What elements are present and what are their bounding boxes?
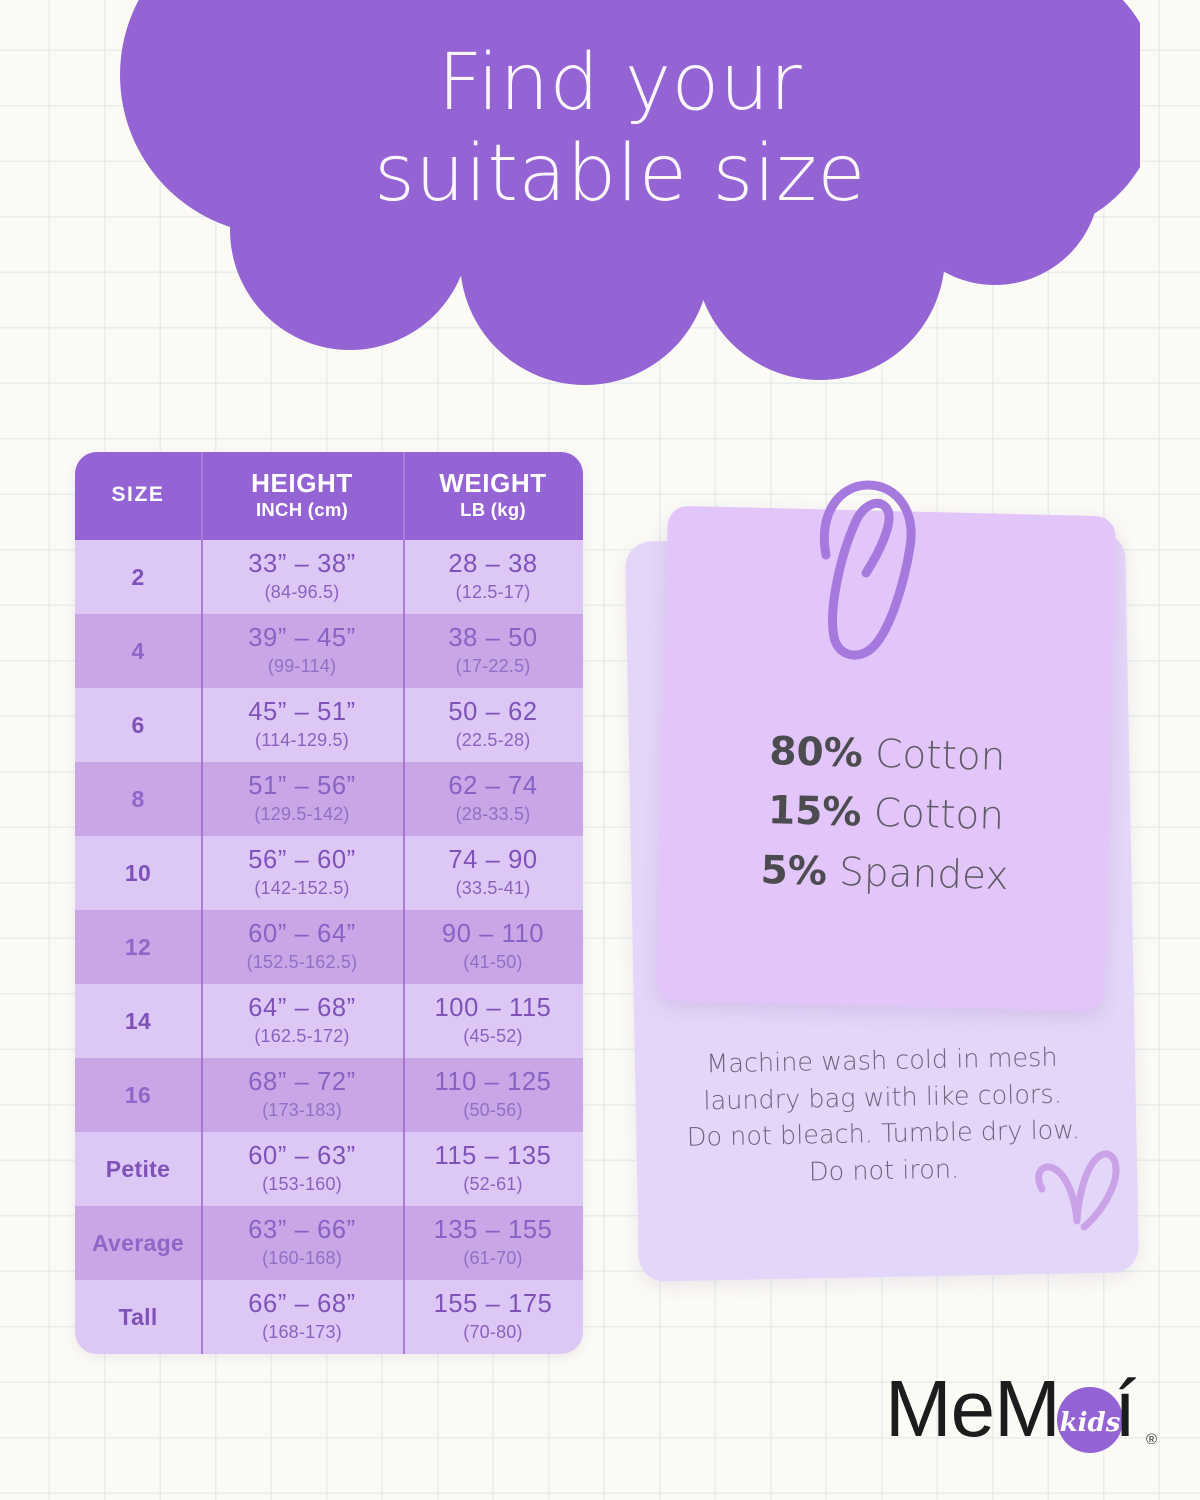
column-header-size: SIZE	[75, 452, 201, 540]
size-value: 2	[131, 564, 144, 591]
weight-kg: (17-22.5)	[456, 656, 531, 678]
cell-size: Average	[75, 1206, 201, 1280]
height-inch: 64” – 68”	[248, 995, 355, 1023]
fabric-percent: 15%	[767, 788, 861, 835]
page-title: Find your suitable size	[170, 38, 1070, 221]
column-header-weight: WEIGHT LB (kg)	[403, 452, 583, 540]
height-inch: 56” – 60”	[248, 847, 355, 875]
column-header-size-label: SIZE	[111, 483, 164, 507]
table-row: 2 33” – 38” (84-96.5) 28 – 38 (12.5-17)	[75, 540, 583, 614]
table-row: 12 60” – 64” (152.5-162.5) 90 – 110 (41-…	[75, 910, 583, 984]
memoi-kids-logo: MeMo kids í ®	[885, 1364, 1160, 1472]
fabric-composition: 80% Cotton 15% Cotton 5% Spandex	[660, 720, 1112, 909]
table-row: 6 45” – 51” (114-129.5) 50 – 62 (22.5-28…	[75, 688, 583, 762]
fabric-percent: 80%	[769, 729, 863, 776]
table-row: Petite 60” – 63” (153-160) 115 – 135 (52…	[75, 1132, 583, 1206]
weight-lb: 38 – 50	[448, 625, 537, 653]
kids-badge-text: kids	[1060, 1408, 1121, 1438]
heart-doodle-icon	[1028, 1143, 1124, 1243]
cell-weight: 135 – 155 (61-70)	[403, 1206, 583, 1280]
height-cm: (99-114)	[268, 656, 336, 678]
cell-weight: 62 – 74 (28-33.5)	[403, 762, 583, 836]
height-inch: 66” – 68”	[248, 1291, 355, 1319]
cell-size: Tall	[75, 1280, 201, 1354]
cell-height: 51” – 56” (129.5-142)	[201, 762, 403, 836]
height-cm: (142-152.5)	[254, 878, 349, 900]
height-inch: 68” – 72”	[248, 1069, 355, 1097]
weight-lb: 28 – 38	[448, 551, 537, 579]
table-row: Average 63” – 66” (160-168) 135 – 155 (6…	[75, 1206, 583, 1280]
weight-kg: (52-61)	[463, 1174, 522, 1196]
column-header-height-unit: INCH (cm)	[256, 499, 348, 521]
column-header-height-label: HEIGHT	[251, 469, 353, 498]
column-header-height: HEIGHT INCH (cm)	[201, 452, 403, 540]
cell-height: 64” – 68” (162.5-172)	[201, 984, 403, 1058]
size-value: 12	[125, 934, 151, 961]
table-row: 14 64” – 68” (162.5-172) 100 – 115 (45-5…	[75, 984, 583, 1058]
fabric-percent: 5%	[760, 847, 827, 894]
cell-size: 4	[75, 614, 201, 688]
weight-lb: 115 – 135	[435, 1143, 552, 1171]
table-row: Tall 66” – 68” (168-173) 155 – 175 (70-8…	[75, 1280, 583, 1354]
height-cm: (153-160)	[262, 1174, 342, 1196]
weight-kg: (61-70)	[463, 1248, 522, 1270]
cell-height: 63” – 66” (160-168)	[201, 1206, 403, 1280]
size-chart-table: SIZE HEIGHT INCH (cm) WEIGHT LB (kg) 2 3…	[75, 452, 583, 1354]
weight-lb: 90 – 110	[442, 921, 544, 949]
cell-height: 68” – 72” (173-183)	[201, 1058, 403, 1132]
cell-size: 6	[75, 688, 201, 762]
weight-kg: (41-50)	[463, 952, 522, 974]
size-value: 8	[131, 786, 144, 813]
cell-size: 14	[75, 984, 201, 1058]
weight-lb: 135 – 155	[434, 1217, 553, 1245]
size-value: 14	[125, 1008, 151, 1035]
fabric-line: 80% Cotton	[663, 720, 1112, 790]
height-cm: (162.5-172)	[254, 1026, 349, 1048]
height-inch: 60” – 64”	[248, 921, 355, 949]
table-header-row: SIZE HEIGHT INCH (cm) WEIGHT LB (kg)	[75, 452, 583, 540]
height-inch: 33” – 38”	[248, 551, 355, 579]
height-cm: (84-96.5)	[265, 582, 340, 604]
cell-weight: 155 – 175 (70-80)	[403, 1280, 583, 1354]
column-header-weight-label: WEIGHT	[439, 469, 547, 498]
cell-weight: 74 – 90 (33.5-41)	[403, 836, 583, 910]
size-value: 16	[125, 1082, 151, 1109]
cell-size: 12	[75, 910, 201, 984]
weight-kg: (22.5-28)	[456, 730, 531, 752]
cell-height: 45” – 51” (114-129.5)	[201, 688, 403, 762]
size-value: 4	[131, 638, 144, 665]
height-cm: (114-129.5)	[255, 730, 349, 752]
paperclip-icon	[804, 469, 944, 669]
size-value: 10	[125, 860, 151, 887]
page-title-line1: Find your	[438, 38, 803, 128]
height-cm: (129.5-142)	[254, 804, 349, 826]
cell-height: 60” – 64” (152.5-162.5)	[201, 910, 403, 984]
height-cm: (152.5-162.5)	[247, 952, 358, 974]
height-inch: 45” – 51”	[248, 699, 355, 727]
height-cm: (160-168)	[262, 1248, 342, 1270]
weight-lb: 100 – 115	[435, 995, 552, 1023]
cell-size: Petite	[75, 1132, 201, 1206]
svg-text:í: í	[1114, 1364, 1136, 1453]
weight-kg: (12.5-17)	[456, 582, 531, 604]
column-header-weight-unit: LB (kg)	[460, 499, 526, 521]
cell-height: 39” – 45” (99-114)	[201, 614, 403, 688]
size-value: Petite	[106, 1156, 170, 1183]
height-inch: 60” – 63”	[248, 1143, 355, 1171]
cell-size: 8	[75, 762, 201, 836]
weight-lb: 74 – 90	[448, 847, 537, 875]
fabric-line: 5% Spandex	[660, 838, 1109, 908]
size-value: 6	[131, 712, 144, 739]
table-row: 10 56” – 60” (142-152.5) 74 – 90 (33.5-4…	[75, 836, 583, 910]
height-inch: 39” – 45”	[248, 625, 355, 653]
height-inch: 63” – 66”	[248, 1217, 355, 1245]
cell-weight: 38 – 50 (17-22.5)	[403, 614, 583, 688]
cell-height: 66” – 68” (168-173)	[201, 1280, 403, 1354]
fabric-material: Cotton	[875, 732, 1006, 780]
cell-height: 60” – 63” (153-160)	[201, 1132, 403, 1206]
weight-lb: 110 – 125	[435, 1069, 552, 1097]
fabric-line: 15% Cotton	[661, 779, 1110, 849]
cell-weight: 90 – 110 (41-50)	[403, 910, 583, 984]
height-cm: (173-183)	[262, 1100, 342, 1122]
cell-size: 16	[75, 1058, 201, 1132]
weight-lb: 50 – 62	[448, 699, 537, 727]
weight-kg: (45-52)	[463, 1026, 522, 1048]
weight-lb: 155 – 175	[434, 1291, 553, 1319]
table-row: 4 39” – 45” (99-114) 38 – 50 (17-22.5)	[75, 614, 583, 688]
registered-mark: ®	[1146, 1431, 1157, 1448]
size-value: Average	[92, 1230, 184, 1257]
cell-weight: 28 – 38 (12.5-17)	[403, 540, 583, 614]
table-row: 8 51” – 56” (129.5-142) 62 – 74 (28-33.5…	[75, 762, 583, 836]
cell-weight: 110 – 125 (50-56)	[403, 1058, 583, 1132]
weight-kg: (28-33.5)	[456, 804, 531, 826]
weight-lb: 62 – 74	[448, 773, 537, 801]
info-note-stack: 80% Cotton 15% Cotton 5% Spandex Machine…	[618, 495, 1148, 1285]
size-value: Tall	[118, 1304, 157, 1331]
height-cm: (168-173)	[262, 1322, 342, 1344]
weight-kg: (70-80)	[463, 1322, 522, 1344]
cell-weight: 115 – 135 (52-61)	[403, 1132, 583, 1206]
weight-kg: (33.5-41)	[456, 878, 531, 900]
cell-size: 2	[75, 540, 201, 614]
cell-weight: 50 – 62 (22.5-28)	[403, 688, 583, 762]
cell-height: 33” – 38” (84-96.5)	[201, 540, 403, 614]
fabric-material: Spandex	[839, 849, 1009, 898]
height-inch: 51” – 56”	[248, 773, 355, 801]
fabric-material: Cotton	[873, 791, 1004, 839]
page-title-line2: suitable size	[170, 129, 1070, 220]
table-row: 16 68” – 72” (173-183) 110 – 125 (50-56)	[75, 1058, 583, 1132]
cell-weight: 100 – 115 (45-52)	[403, 984, 583, 1058]
cell-height: 56” – 60” (142-152.5)	[201, 836, 403, 910]
weight-kg: (50-56)	[463, 1100, 522, 1122]
cell-size: 10	[75, 836, 201, 910]
